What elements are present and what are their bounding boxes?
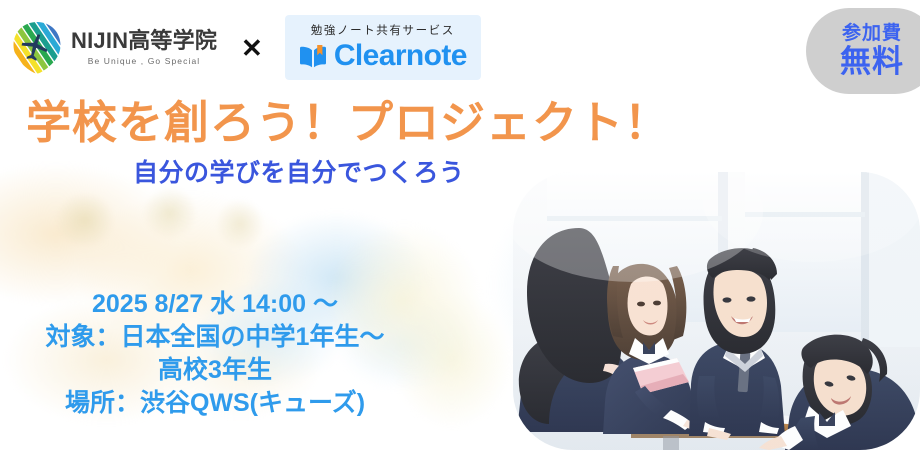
clearnote-tagline: 勉強ノート共有サービス: [311, 22, 455, 38]
event-details: 2025 8/27 水 14:00 〜 対象：日本全国の中学1年生〜 高校3年生…: [0, 288, 430, 420]
rainbow-pin-airplane-icon: [12, 21, 62, 75]
collaboration-cross-icon: ✕: [241, 35, 263, 61]
event-detail-line: 高校3年生: [0, 354, 430, 387]
clearnote-logo-name: Clearnote: [334, 41, 467, 71]
clearnote-logo[interactable]: 勉強ノート共有サービス Clearnote: [285, 15, 481, 80]
event-detail-line: 場所：渋谷QWS(キューズ): [0, 387, 430, 420]
swirl-accent-blob: [30, 175, 280, 265]
event-detail-line: 2025 8/27 水 14:00 〜: [0, 288, 430, 321]
logo-header: NIJIN高等学院 Be Unique , Go Special ✕ 勉強ノート…: [0, 0, 920, 95]
page-title: 学校を創ろう！プロジェクト！: [26, 98, 670, 148]
open-book-bookmark-icon: [299, 44, 327, 68]
event-detail-line: 対象：日本全国の中学1年生〜: [0, 321, 430, 354]
nijin-logo-tagline: Be Unique , Go Special: [88, 56, 201, 66]
badge-label-fee: 参加費: [842, 24, 902, 45]
nijin-logo-name: NIJIN高等学院: [71, 29, 217, 52]
students-group-photo: [513, 172, 920, 450]
badge-label-free: 無料: [840, 46, 904, 79]
page-subtitle: 自分の学びを自分でつくろう: [133, 158, 465, 188]
free-participation-badge: 参加費 無料: [806, 8, 920, 94]
nijin-logo[interactable]: NIJIN高等学院 Be Unique , Go Special: [12, 21, 217, 75]
